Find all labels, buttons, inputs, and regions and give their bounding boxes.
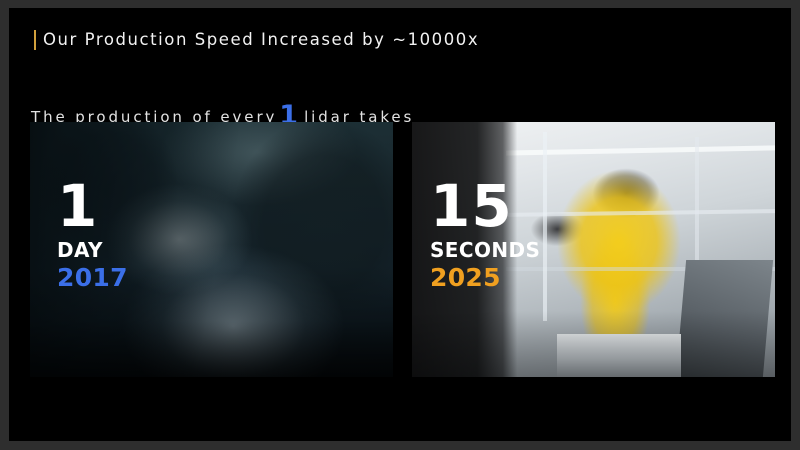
stat-overlay-2025: 15 SECONDS 2025 (430, 179, 540, 290)
stat-unit-2017: DAY (57, 240, 128, 260)
slide-canvas: Our Production Speed Increased by ~10000… (9, 8, 791, 441)
slide-frame: Our Production Speed Increased by ~10000… (0, 0, 800, 450)
slide-title-row: Our Production Speed Increased by ~10000… (34, 27, 479, 53)
stat-number-2017: 1 (57, 179, 128, 234)
stat-number-2025: 15 (430, 179, 540, 234)
title-accent-bar (34, 30, 36, 50)
stat-year-2017: 2017 (57, 265, 128, 290)
panel-2017: 1 DAY 2017 (30, 122, 393, 377)
stat-overlay-2017: 1 DAY 2017 (57, 179, 128, 290)
panel-2025: 15 SECONDS 2025 (412, 122, 775, 377)
page-title: Our Production Speed Increased by ~10000… (43, 32, 479, 49)
stat-unit-2025: SECONDS (430, 240, 540, 260)
stat-year-2025: 2025 (430, 265, 540, 290)
